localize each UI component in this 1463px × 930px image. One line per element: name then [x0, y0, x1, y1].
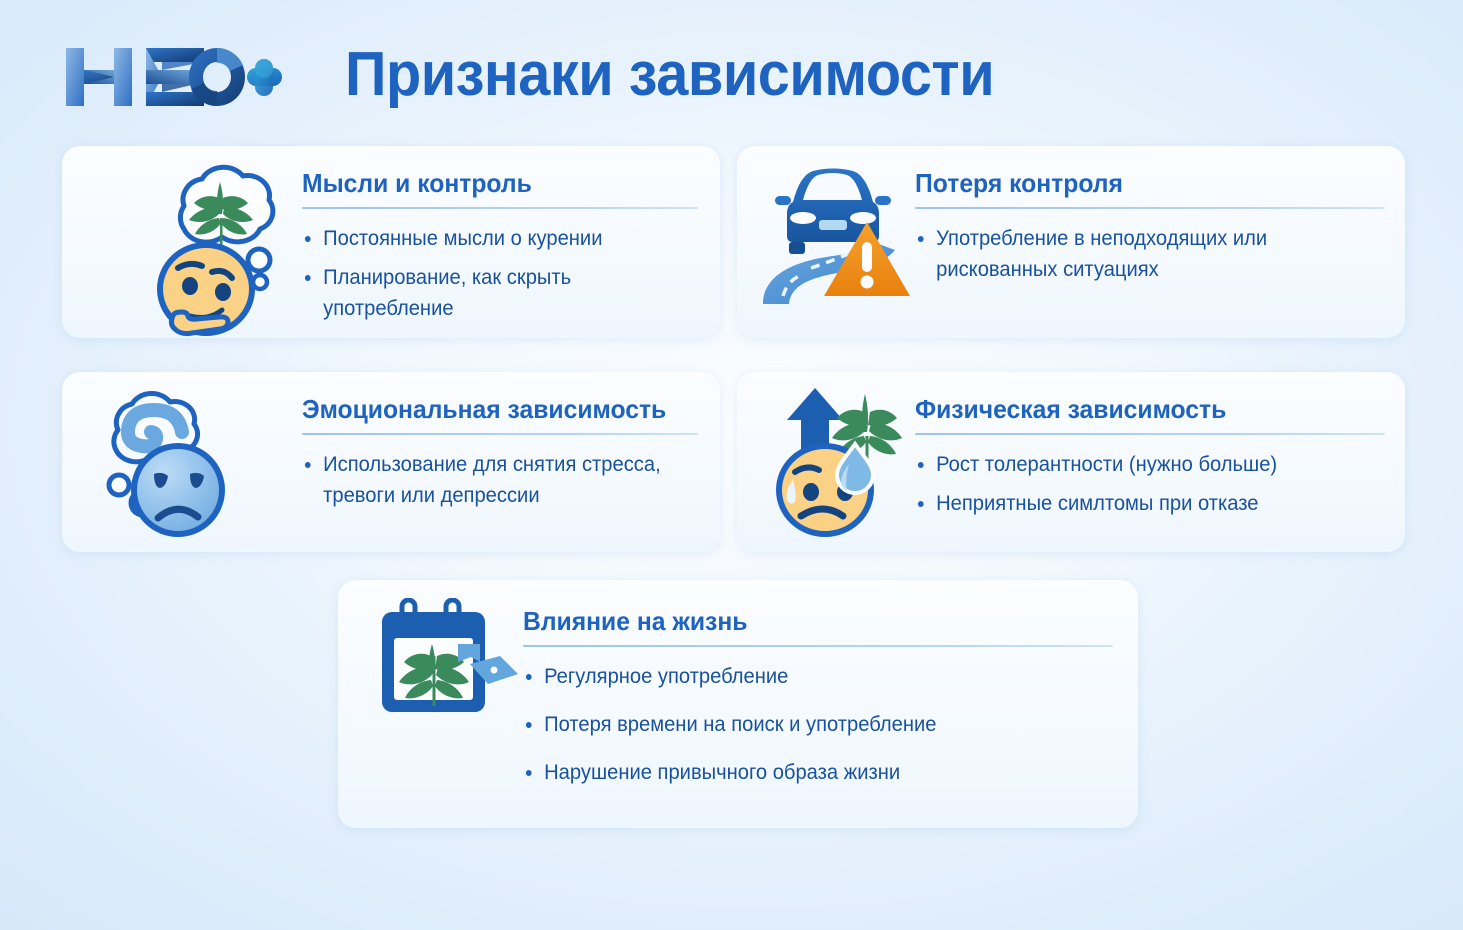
- list-item: Планирование, как скрыть употребление: [302, 262, 682, 324]
- card-body: Эмоциональная зависимость Использование …: [302, 394, 698, 511]
- calendar-with-cannabis-leaf-icon: [376, 598, 521, 720]
- bullet-list: Употребление в неподходящих или рискован…: [915, 223, 1385, 285]
- bullet-dot-icon: [918, 462, 924, 468]
- card-thoughts-and-control: Мысли и контроль Постоянные мысли о куре…: [62, 146, 720, 338]
- bullet-dot-icon: [526, 770, 532, 776]
- bullet-text: Рост толерантности (нужно больше): [936, 453, 1277, 476]
- thinking-face-with-cannabis-thought-bubble-icon: [146, 164, 296, 338]
- bullet-list: Рост толерантности (нужно больше) Неприя…: [915, 449, 1385, 519]
- card-body: Потеря контроля Употребление в неподходя…: [915, 168, 1385, 285]
- card-body: Физическая зависимость Рост толерантност…: [915, 394, 1385, 519]
- list-item: Постоянные мысли о курении: [302, 223, 682, 254]
- card-heading: Влияние на жизнь: [523, 606, 1084, 636]
- card-physical-dependence: Физическая зависимость Рост толерантност…: [737, 372, 1405, 552]
- bullet-text: Постоянные мысли о курении: [323, 227, 602, 250]
- card-emotional-dependence: Эмоциональная зависимость Использование …: [62, 372, 720, 552]
- heading-divider: [523, 645, 1113, 647]
- neo-plus-logo: НЕО+: [62, 44, 284, 110]
- heading-divider: [302, 207, 698, 209]
- bullet-text: Потеря времени на поиск и употребление: [544, 713, 936, 736]
- bullet-list: Регулярное употребление Потеря времени н…: [523, 661, 1113, 788]
- bullet-text: Употребление в неподходящих или рискован…: [936, 227, 1267, 281]
- list-item: Неприятные симлтомы при отказе: [915, 488, 1366, 519]
- bullet-text: Неприятные симлтомы при отказе: [936, 492, 1258, 515]
- bullet-dot-icon: [305, 275, 311, 281]
- card-heading: Физическая зависимость: [915, 394, 1362, 424]
- heading-divider: [302, 433, 698, 435]
- page-title: Признаки зависимости: [345, 40, 994, 110]
- list-item: Использование для снятия стресса, тревог…: [302, 449, 682, 511]
- card-body: Мысли и контроль Постоянные мысли о куре…: [302, 168, 698, 324]
- bullet-dot-icon: [526, 722, 532, 728]
- page-header: НЕО+ Признаки зависимости: [0, 0, 1463, 140]
- heading-divider: [915, 433, 1385, 435]
- card-body: Влияние на жизнь Регулярное употребление…: [523, 606, 1113, 805]
- heading-divider: [915, 207, 1385, 209]
- list-item: Рост толерантности (нужно больше): [915, 449, 1366, 480]
- bullet-text: Нарушение привычного образа жизни: [544, 761, 900, 784]
- bullet-dot-icon: [305, 462, 311, 468]
- bullet-dot-icon: [526, 674, 532, 680]
- up-arrow-cannabis-leaf-sweating-face-icon: [763, 382, 915, 540]
- sad-blue-face-with-thought-cloud-icon: [90, 386, 242, 541]
- car-road-warning-triangle-icon: [755, 164, 910, 304]
- bullet-dot-icon: [305, 236, 311, 242]
- bullet-text: Использование для снятия стресса, тревог…: [323, 453, 661, 507]
- bullet-list: Использование для снятия стресса, тревог…: [302, 449, 698, 511]
- card-heading: Мысли и контроль: [302, 168, 678, 198]
- list-item: Употребление в неподходящих или рискован…: [915, 223, 1366, 285]
- list-item: Нарушение привычного образа жизни: [523, 757, 1089, 788]
- card-loss-of-control: Потеря контроля Употребление в неподходя…: [737, 146, 1405, 338]
- bullet-text: Планирование, как скрыть употребление: [323, 266, 571, 320]
- list-item: Регулярное употребление: [523, 661, 1089, 692]
- bullet-dot-icon: [918, 501, 924, 507]
- card-heading: Эмоциональная зависимость: [302, 394, 678, 424]
- bullet-dot-icon: [918, 236, 924, 242]
- card-impact-on-life: Влияние на жизнь Регулярное употребление…: [338, 580, 1138, 828]
- list-item: Потеря времени на поиск и употребление: [523, 709, 1089, 740]
- bullet-text: Регулярное употребление: [544, 665, 788, 688]
- card-heading: Потеря контроля: [915, 168, 1362, 198]
- bullet-list: Постоянные мысли о курении Планирование,…: [302, 223, 698, 324]
